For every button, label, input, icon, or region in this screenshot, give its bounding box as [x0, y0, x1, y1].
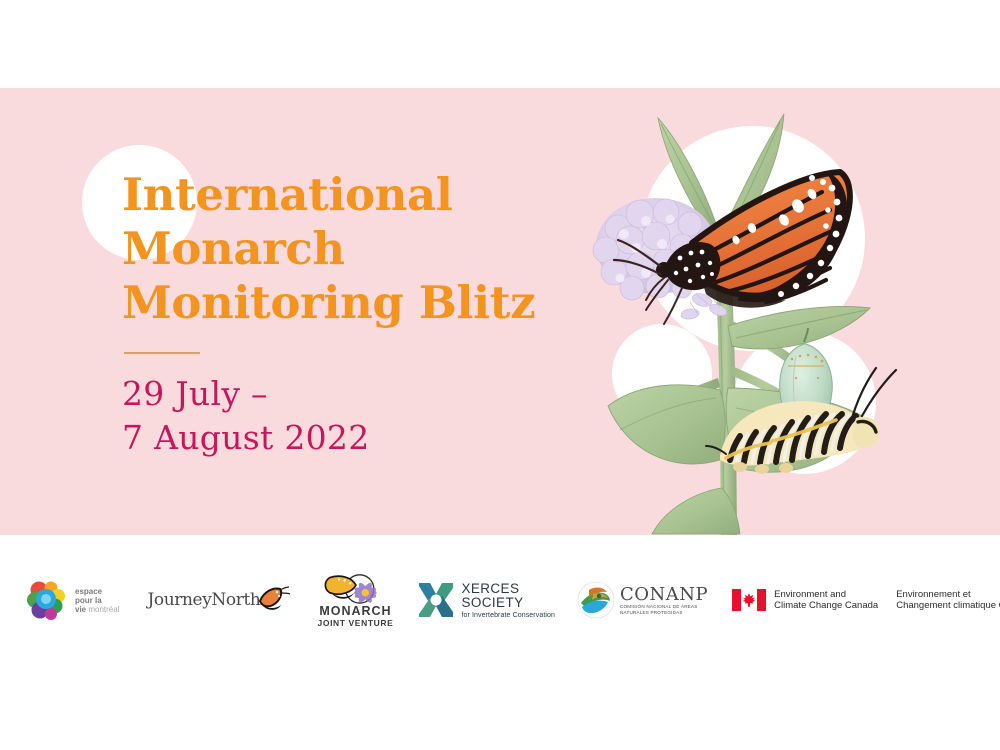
partner-logo-row: espace pour la vie montréal JourneyNorth [14, 565, 990, 635]
event-dates: 29 July – 7 August 2022 [122, 372, 592, 460]
title-line-2: Monarch [122, 222, 592, 276]
ecc-canada-english-wordmark: Environment and Climate Change Canada [774, 589, 878, 612]
logo-conanp[interactable]: CONANP COMISIÓN NACIONAL DE ÁREAS NATURA… [577, 571, 708, 629]
ecc-en-line-1: Environment and [774, 589, 878, 601]
epv-line-3b: montréal [88, 605, 119, 614]
title-line-3: Monitoring Blitz [122, 276, 592, 330]
journey-north-butterfly-icon [256, 585, 290, 615]
ecc-en-line-2: Climate Change Canada [774, 600, 878, 612]
epv-line-1: espace [75, 587, 119, 596]
title-line-1: International [122, 168, 592, 222]
logo-espace-pour-la-vie[interactable]: espace pour la vie montréal [24, 571, 119, 629]
espace-pour-la-vie-icon [24, 577, 70, 623]
xerces-society-wordmark: XERCES SOCIETY for Invertebrate Conserva… [461, 582, 555, 619]
ecc-fr-line-2: Changement climatique Canada [896, 600, 1000, 612]
espace-pour-la-vie-wordmark: espace pour la vie montréal [75, 587, 119, 614]
canada-flag-icon [732, 589, 766, 611]
epv-line-3a: vie [75, 605, 86, 614]
date-line-1: 29 July – [122, 372, 592, 416]
logo-xerces-society[interactable]: XERCES SOCIETY for Invertebrate Conserva… [416, 571, 555, 629]
monarch-lifecycle-illustration [540, 88, 1000, 535]
conanp-icon [577, 581, 615, 619]
logo-environment-climate-change-canada[interactable]: Environment and Climate Change Canada En… [732, 571, 1000, 629]
xerces-line-3: for Invertebrate Conservation [461, 612, 555, 619]
journey-north-wordmark: JourneyNorth [147, 590, 260, 610]
logo-journey-north[interactable]: JourneyNorth [147, 571, 290, 629]
date-line-2: 7 August 2022 [122, 416, 592, 460]
ecc-canada-french-wordmark: Environnement et Changement climatique C… [896, 589, 1000, 612]
headline-block: International Monarch Monitoring Blitz 2… [122, 168, 592, 460]
monarch-joint-venture-wordmark: MONARCH JOINT VENTURE [318, 604, 394, 628]
ecc-fr-line-1: Environnement et [896, 589, 1000, 601]
xerces-line-2: SOCIETY [461, 596, 555, 610]
title-divider-rule [124, 352, 200, 354]
monarch-joint-venture-icon [316, 572, 394, 604]
xerces-society-icon [416, 580, 456, 620]
conanp-line-3: NATURALES PROTEGIDAS [620, 610, 708, 616]
mjv-line-2: JOINT VENTURE [318, 618, 394, 628]
logo-monarch-joint-venture[interactable]: MONARCH JOINT VENTURE [316, 572, 394, 628]
epv-line-2: pour la [75, 596, 119, 605]
xerces-line-1: XERCES [461, 582, 555, 596]
partner-logo-bar: espace pour la vie montréal JourneyNorth [0, 535, 1000, 750]
conanp-line-2: COMISIÓN NACIONAL DE ÁREAS [620, 604, 708, 610]
mjv-line-1: MONARCH [318, 604, 394, 618]
poster-canvas: International Monarch Monitoring Blitz 2… [0, 0, 1000, 750]
hero-band: International Monarch Monitoring Blitz 2… [0, 88, 1000, 535]
conanp-line-1: CONANP [620, 585, 708, 604]
conanp-wordmark: CONANP COMISIÓN NACIONAL DE ÁREAS NATURA… [620, 585, 708, 616]
page-title: International Monarch Monitoring Blitz [122, 168, 592, 330]
